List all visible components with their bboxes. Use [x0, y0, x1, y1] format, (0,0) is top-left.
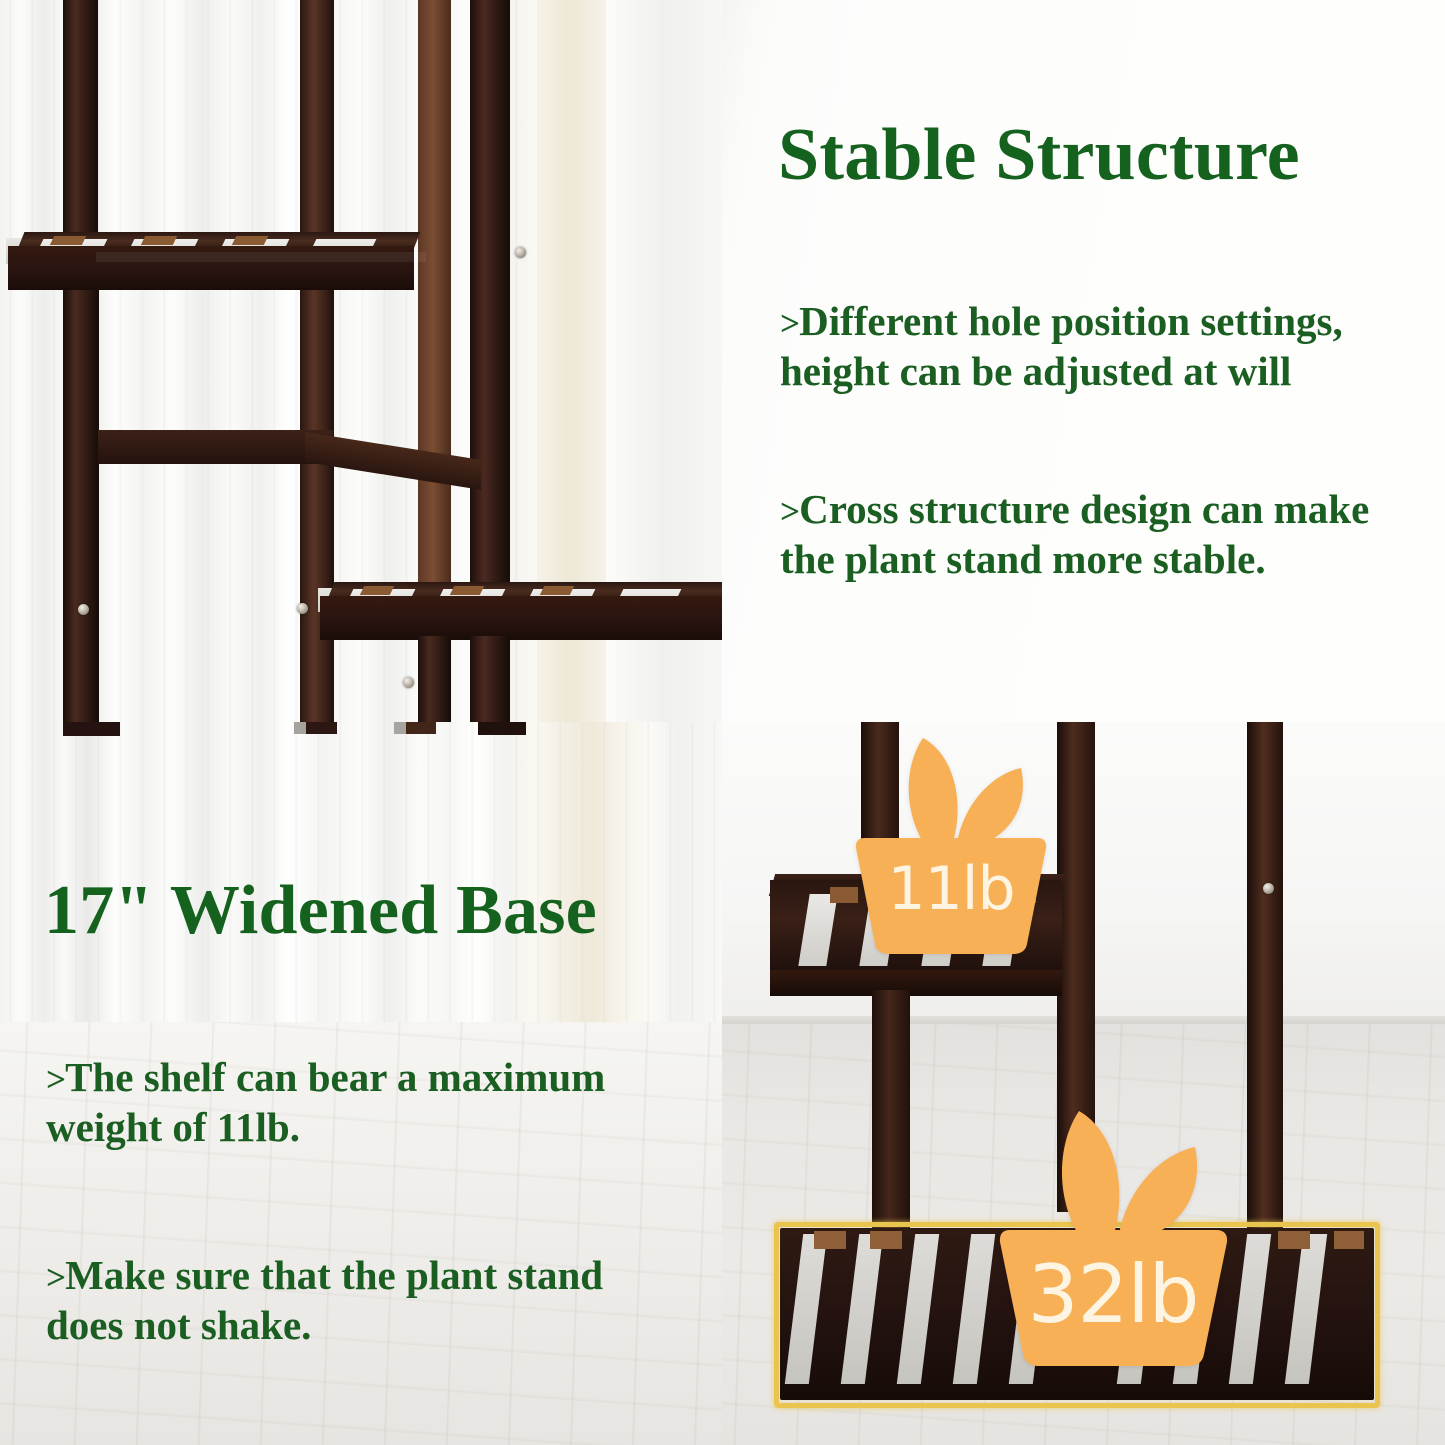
bullet-no-shake: >Make sure that the plant stand does not…: [46, 1250, 686, 1350]
bullet-marker-2: >: [780, 492, 799, 531]
plant-pot-icon: [841, 730, 1061, 960]
screw-lower-center: [403, 677, 414, 688]
screw-right-leg: [1263, 883, 1274, 894]
panel-widened-base-photo: 11lb 32lb: [722, 722, 1445, 1445]
shelf-lower-apron: [320, 596, 722, 640]
stand-upright-midleft-top: [300, 0, 334, 244]
shelf-upper-wood-edge-2: [141, 236, 177, 245]
bullet-line-3a: The shelf can bear a maximum: [65, 1054, 605, 1100]
panel-widened-base-text: 17" Widened Base >The shelf can bear a m…: [0, 722, 722, 1445]
bullet-line-4b: does not shake.: [46, 1302, 311, 1348]
screw-midleft: [297, 603, 308, 614]
bullet-marker-4: >: [46, 1258, 65, 1297]
shelf-slat-bleed-2-edge: [294, 722, 306, 734]
heading-widened-base: 17" Widened Base: [44, 875, 597, 946]
base-wood-edge-2: [870, 1231, 902, 1249]
upper-shelf-support-leg: [872, 990, 910, 1240]
shelf-upper-wood-edge-1: [50, 236, 86, 245]
bullet-shelf-weight: >The shelf can bear a maximum weight of …: [46, 1052, 686, 1152]
shelf-lower-wood-edge-2: [450, 586, 484, 595]
screw-left: [78, 604, 89, 615]
bullet-line-1b: height can be adjusted at will: [780, 348, 1291, 394]
base-wood-edge-3: [1278, 1231, 1310, 1249]
bullet-marker-3: >: [46, 1060, 65, 1099]
bullet-cross-structure: >Cross structure design can make the pla…: [780, 484, 1440, 584]
base-capacity-label: 32lb: [982, 1248, 1244, 1341]
bullet-line-2a: Cross structure design can make: [799, 486, 1369, 532]
bullet-marker-1: >: [780, 304, 799, 343]
bullet-hole-position: >Different hole position settings, heigh…: [780, 296, 1420, 396]
shelf-slat-bleed-3: [403, 722, 436, 734]
stand-leg-center-lower: [418, 636, 451, 722]
panel-stable-structure-text: Stable Structure >Different hole positio…: [722, 0, 1445, 722]
heading-stable-structure: Stable Structure: [778, 118, 1300, 193]
base-wood-edge-4: [1334, 1231, 1364, 1249]
bullet-line-2b: the plant stand more stable.: [780, 536, 1266, 582]
stand-leg-right-lower: [470, 636, 510, 722]
shelf-slat-bleed-4: [478, 722, 526, 735]
base-wood-edge-1: [814, 1231, 846, 1249]
infographic-sheet: Stable Structure >Different hole positio…: [0, 0, 1445, 1445]
bullet-line-4a: Make sure that the plant stand: [65, 1252, 603, 1298]
upper-shelf-apron: [770, 970, 1062, 996]
panel-stable-structure-photo: [0, 0, 722, 722]
stand-upright-midleft-bottom: [300, 290, 334, 722]
base-capacity-badge: 32lb: [982, 1102, 1244, 1374]
shelf-lower-wood-edge-1: [360, 586, 394, 595]
bullet-line-3b: weight of 11lb.: [46, 1104, 300, 1150]
stand-leg-right: [1247, 722, 1283, 1230]
shelf-slat-bleed-3-edge: [394, 722, 406, 734]
shelf-upper-wood-edge-3: [232, 236, 268, 245]
shelf-capacity-label: 11lb: [841, 854, 1061, 924]
shelf-upper-apron-highlight: [96, 252, 426, 262]
bullet-line-1a: Different hole position settings,: [799, 298, 1343, 344]
shelf-lower-wood-edge-3: [540, 586, 574, 595]
cross-rail-left: [98, 430, 333, 464]
screw-upper-right: [515, 247, 526, 258]
shelf-capacity-badge: 11lb: [841, 730, 1061, 960]
stand-upright-left-top: [63, 0, 98, 248]
stand-upright-left-bottom: [63, 278, 99, 722]
shelf-slat-bleed-1: [63, 722, 120, 736]
